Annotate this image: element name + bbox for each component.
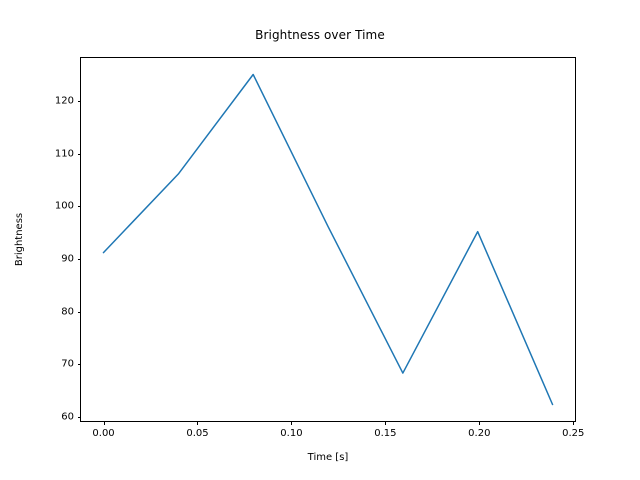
y-axis-label-text: Brightness — [15, 213, 26, 266]
y-axis-tick — [78, 101, 82, 102]
brightness-line — [103, 74, 552, 404]
x-axis-label: Time [s] — [80, 452, 576, 463]
x-axis-tick-label: 0.20 — [468, 428, 490, 439]
plot-area: 607080901001101200.000.050.100.150.200.2… — [80, 57, 576, 422]
x-axis-tick — [479, 421, 480, 425]
x-axis-tick-label: 0.05 — [186, 428, 208, 439]
y-axis-tick — [78, 364, 82, 365]
x-axis-tick-label: 0.25 — [562, 428, 584, 439]
y-axis-tick — [78, 206, 82, 207]
chart-title: Brightness over Time — [0, 28, 640, 42]
x-axis-tick — [104, 421, 105, 425]
figure-canvas: Brightness over Time 607080901001101200.… — [0, 0, 640, 480]
y-axis-tick — [78, 154, 82, 155]
x-axis-tick-label: 0.15 — [374, 428, 396, 439]
x-axis-tick-label: 0.10 — [280, 428, 302, 439]
line-series-svg — [81, 58, 575, 421]
y-axis-tick — [78, 312, 82, 313]
y-axis-tick — [78, 417, 82, 418]
y-axis-label: Brightness — [13, 57, 27, 422]
x-axis-tick-label: 0.00 — [92, 428, 114, 439]
y-axis-tick — [78, 259, 82, 260]
x-axis-tick — [291, 421, 292, 425]
y-axis-tick-label: 110 — [55, 148, 74, 159]
y-axis-tick-label: 90 — [61, 253, 74, 264]
y-axis-tick-label: 120 — [55, 95, 74, 106]
y-axis-tick-label: 80 — [61, 306, 74, 317]
y-axis-tick-label: 100 — [55, 201, 74, 212]
x-axis-tick — [573, 421, 574, 425]
x-axis-tick — [197, 421, 198, 425]
x-axis-tick — [385, 421, 386, 425]
y-axis-tick-label: 70 — [61, 359, 74, 370]
y-axis-tick-label: 60 — [61, 411, 74, 422]
